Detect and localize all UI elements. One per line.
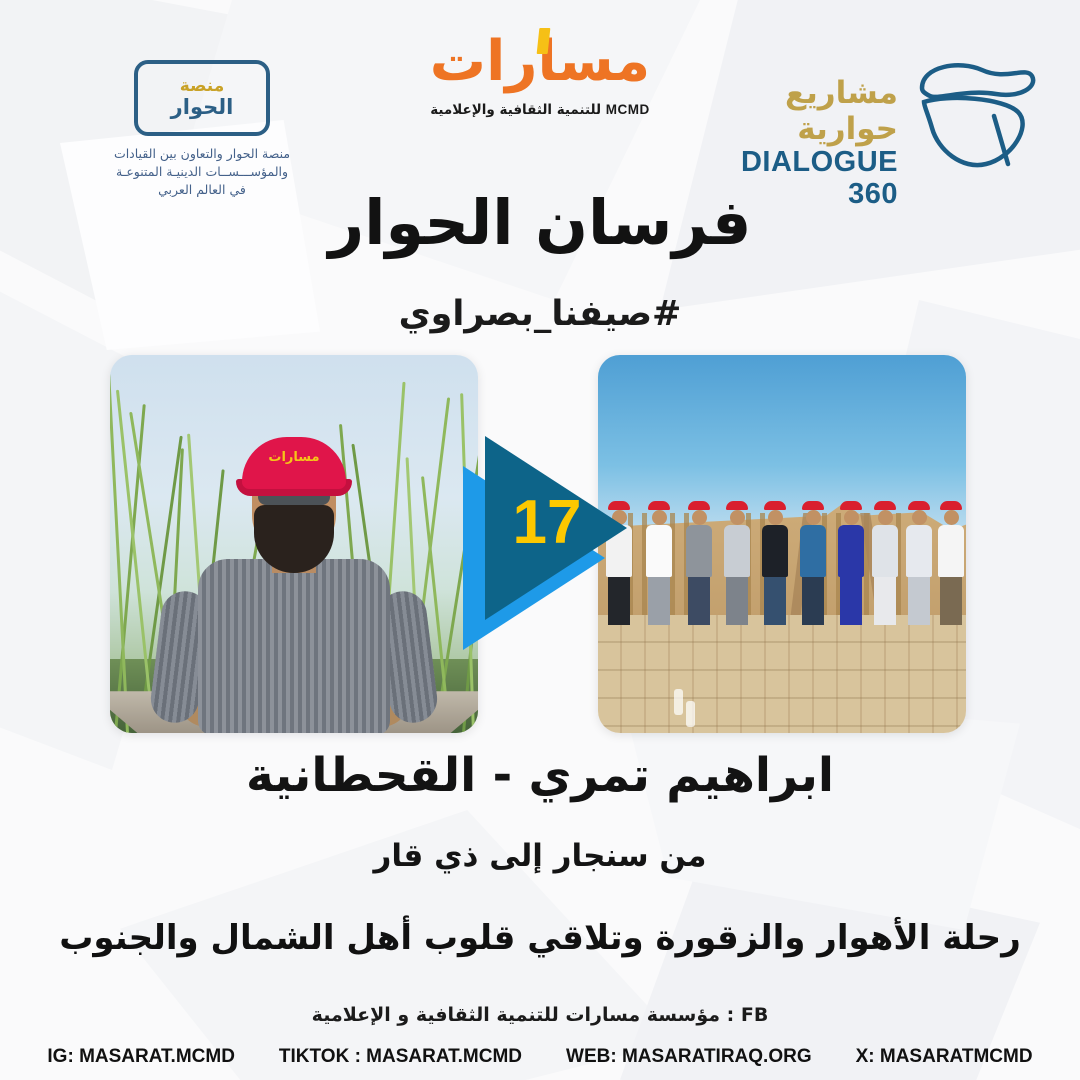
mansat-alhiwar-badge-icon: منصة الحوار	[134, 60, 270, 136]
group-person	[800, 501, 826, 625]
group-person	[872, 501, 898, 625]
group-person	[938, 501, 964, 625]
dialogue360-arabic: مشاريع حوارية	[716, 76, 898, 147]
episode-arrow-badge: 17	[455, 430, 645, 650]
journey-description: رحلة الأهوار والزقورة وتلاقي قلوب أهل ال…	[0, 918, 1080, 958]
masarat-subtitle: MCMD للتنمية الثقافية والإعلامية	[390, 102, 690, 118]
group-person	[646, 501, 672, 625]
social-handle-instagram[interactable]: IG: MASARAT.MCMD	[47, 1046, 235, 1068]
mansat-tagline-line-2: والمؤســـســات الدينيـة المتنوعـة	[52, 163, 352, 181]
group-person	[724, 501, 750, 625]
photo-portrait-marshes: مسارات	[110, 355, 478, 733]
mansat-badge-top-text: منصة	[180, 78, 225, 95]
logo-mansat-alhiwar: منصة الحوار منصة الحوار والتعاون بين الق…	[52, 60, 352, 199]
portrait-torso	[198, 559, 390, 733]
group-person	[762, 501, 788, 625]
social-handle-x[interactable]: X: MASARATMCMD	[856, 1046, 1033, 1068]
social-handle-website[interactable]: WEB: MASARATIRAQ.ORG	[566, 1046, 812, 1068]
journey-route: من سنجار إلى ذي قار	[0, 838, 1080, 874]
poster-canvas: منصة الحوار منصة الحوار والتعاون بين الق…	[0, 0, 1080, 1080]
campaign-hashtag: #صيفنا_بصراوي	[0, 294, 1080, 334]
photo-group-ziggurat	[598, 355, 966, 733]
participant-name: ابراهيم تمري - القحطانية	[0, 748, 1080, 803]
social-handles-row: IG: MASARAT.MCMD TIKTOK : MASARAT.MCMD W…	[0, 1046, 1080, 1068]
logo-masarat: مسارات MCMD للتنمية الثقافية والإعلامية	[390, 34, 690, 118]
page-title: فرسان الحوار	[0, 186, 1080, 259]
social-handle-tiktok[interactable]: TIKTOK : MASARAT.MCMD	[279, 1046, 522, 1068]
portrait-cap-logo-text: مسارات	[268, 451, 320, 465]
mansat-tagline-line-1: منصة الحوار والتعاون بين القيادات	[52, 145, 352, 163]
group-person	[906, 501, 932, 625]
mansat-badge-bottom-text: الحوار	[171, 97, 234, 118]
group-person	[686, 501, 712, 625]
logo-dialogue360: مشاريع حوارية DIALOGUE 360	[716, 52, 1046, 172]
dialogue360-ribbon-icon	[908, 54, 1040, 170]
water-bottle	[674, 689, 683, 715]
water-bottle	[686, 701, 695, 727]
masarat-subtitle-ar: للتنمية الثقافية والإعلامية	[430, 102, 601, 118]
logo-bar: منصة الحوار منصة الحوار والتعاون بين الق…	[0, 0, 1080, 190]
masarat-abbr: MCMD	[606, 102, 650, 117]
episode-number: 17	[499, 492, 595, 554]
facebook-line: FB : مؤسسة مسارات للتنمية الثقافية و الإ…	[0, 1004, 1080, 1026]
group-person	[838, 501, 864, 625]
